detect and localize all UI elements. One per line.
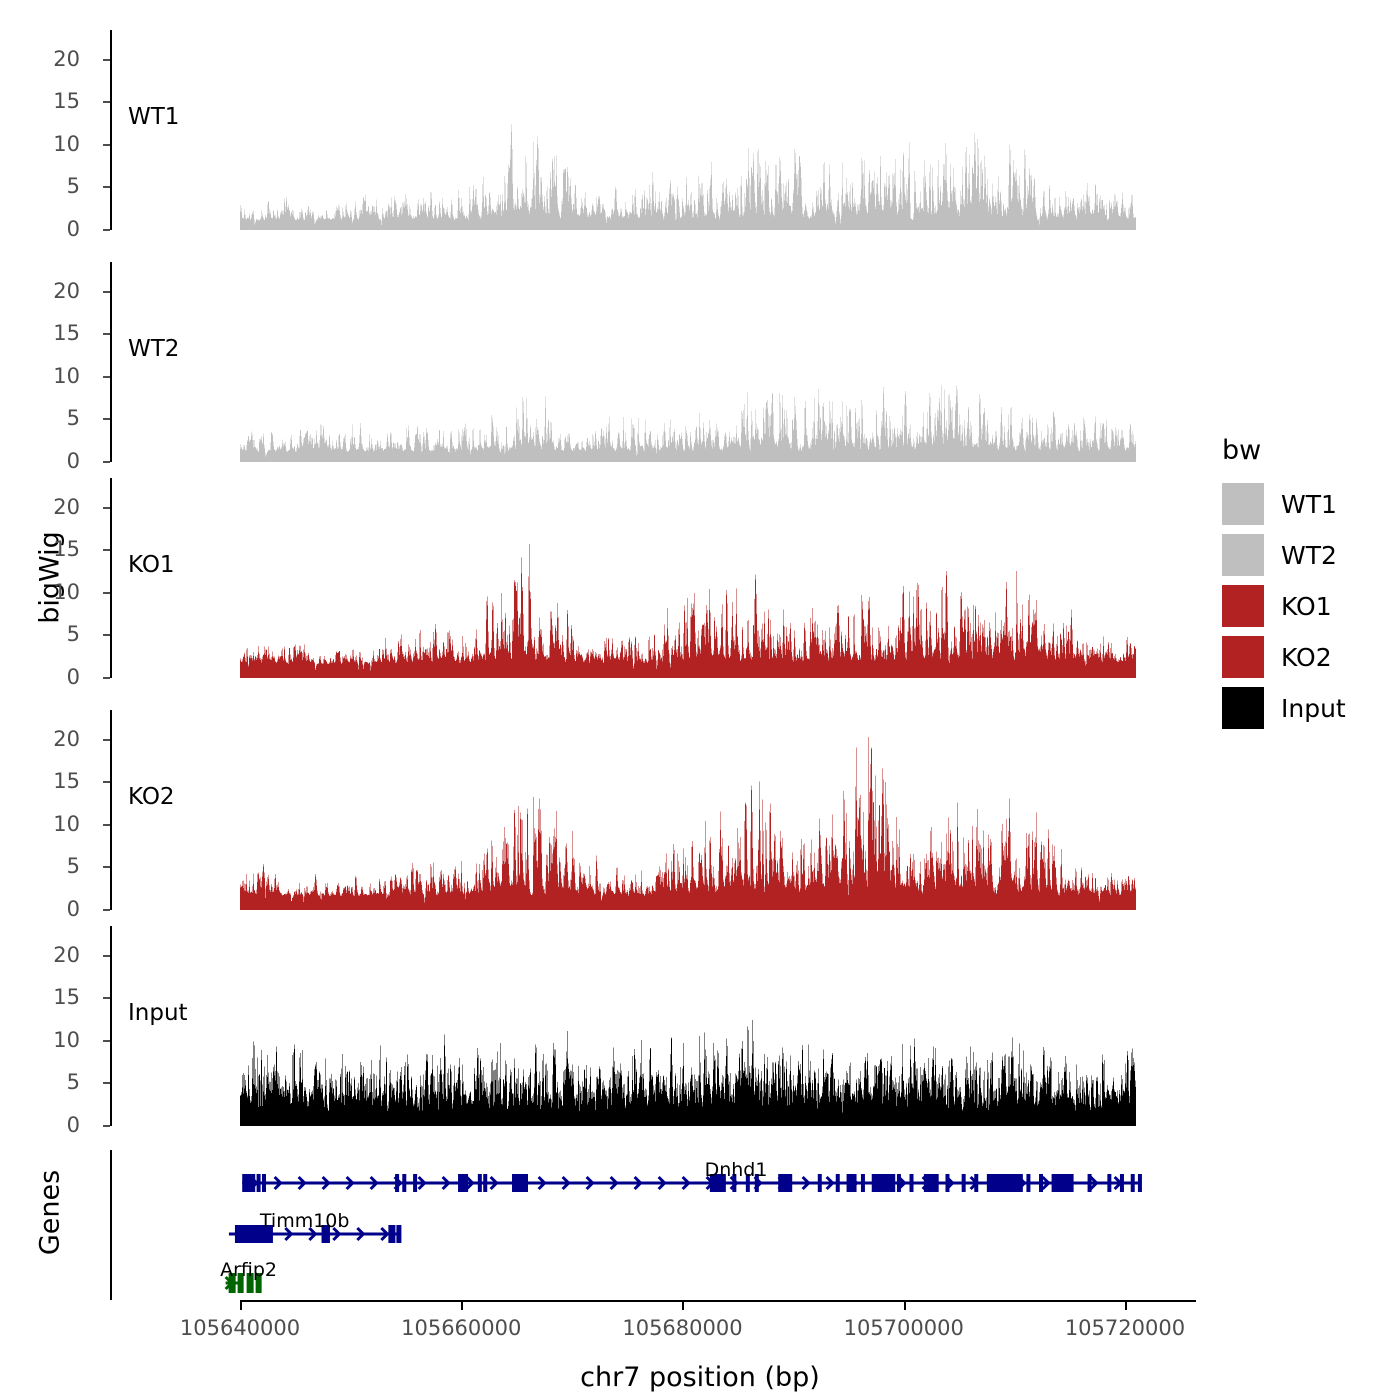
coverage-plot-input xyxy=(0,926,1180,1126)
legend-swatch-ko2 xyxy=(1222,636,1264,678)
x-tick-105680000 xyxy=(682,1302,684,1310)
legend: bw WT1WT2KO1KO2Input xyxy=(0,0,180,300)
x-tick-105640000 xyxy=(240,1302,242,1310)
legend-swatch-wt2 xyxy=(1222,534,1264,576)
legend-title: bw xyxy=(1222,435,1261,466)
coverage-plot-ko1 xyxy=(0,478,1180,678)
legend-item-ko1[interactable]: KO1 xyxy=(1222,585,1332,627)
genes-track-panel: Dnhd1Timm10bArfip2 xyxy=(0,1150,1180,1300)
legend-label-input: Input xyxy=(1281,694,1346,723)
x-tick-105660000 xyxy=(461,1302,463,1310)
gene-label-dnhd1: Dnhd1 xyxy=(705,1159,768,1181)
track-panel-ko1: 05101520KO1 xyxy=(0,478,1180,678)
legend-item-ko2[interactable]: KO2 xyxy=(1222,636,1332,678)
legend-item-wt2[interactable]: WT2 xyxy=(1222,534,1337,576)
legend-item-wt1[interactable]: WT1 xyxy=(1222,483,1337,525)
coverage-plot-ko2 xyxy=(0,710,1180,910)
x-tick-label-105660000: 105660000 xyxy=(351,1316,571,1340)
x-tick-label-105720000: 105720000 xyxy=(1015,1316,1235,1340)
x-tick-label-105640000: 105640000 xyxy=(130,1316,350,1340)
gene-label-timm10b: Timm10b xyxy=(260,1210,350,1232)
legend-label-wt1: WT1 xyxy=(1281,490,1337,519)
x-tick-label-105680000: 105680000 xyxy=(572,1316,792,1340)
x-axis-title: chr7 position (bp) xyxy=(0,1362,1400,1393)
legend-swatch-ko1 xyxy=(1222,585,1264,627)
legend-swatch-wt1 xyxy=(1222,483,1264,525)
legend-item-input[interactable]: Input xyxy=(1222,687,1346,729)
gene-dnhd1[interactable] xyxy=(242,1174,1142,1192)
legend-label-wt2: WT2 xyxy=(1281,541,1337,570)
legend-swatch-input xyxy=(1222,687,1264,729)
track-panel-ko2: 05101520KO2 xyxy=(0,710,1180,910)
gene-label-arfip2: Arfip2 xyxy=(220,1259,277,1281)
legend-label-ko2: KO2 xyxy=(1281,643,1332,672)
legend-label-ko1: KO1 xyxy=(1281,592,1332,621)
x-axis-line xyxy=(240,1300,1196,1302)
x-tick-105720000 xyxy=(1125,1302,1127,1310)
x-tick-105700000 xyxy=(904,1302,906,1310)
track-panel-input: 05101520Input xyxy=(0,926,1180,1126)
x-tick-label-105700000: 105700000 xyxy=(794,1316,1014,1340)
